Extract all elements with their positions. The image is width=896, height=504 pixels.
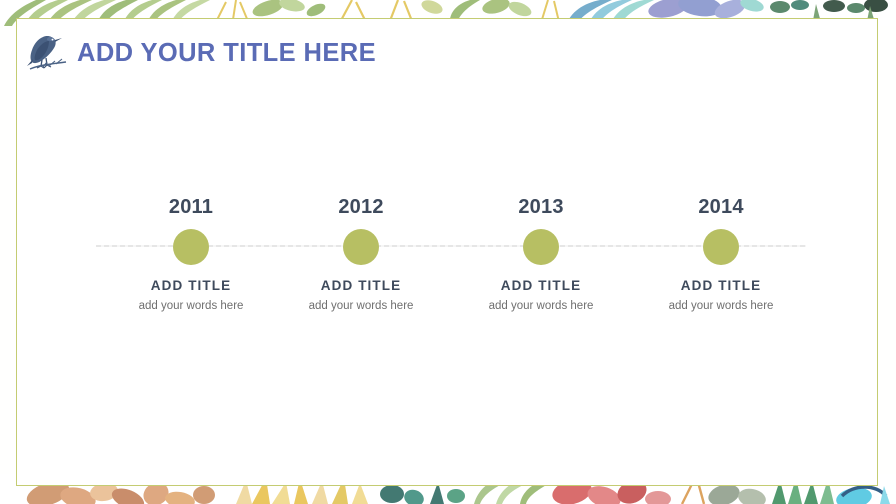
timeline-subtitle: ADD TITLE (451, 278, 631, 294)
timeline-marker-dot[interactable] (173, 229, 209, 265)
timeline-marker-dot[interactable] (703, 229, 739, 265)
timeline-year: 2013 (451, 197, 631, 217)
timeline-description: add your words here (631, 299, 811, 313)
timeline-item[interactable]: 2014 ADD TITLE add your words here (631, 197, 811, 313)
timeline-year: 2014 (631, 197, 811, 217)
timeline-year: 2011 (101, 197, 281, 217)
timeline: 2011 ADD TITLE add your words here 2012 … (17, 19, 879, 487)
timeline-subtitle: ADD TITLE (101, 278, 281, 294)
slide-card: ADD YOUR TITLE HERE 2011 ADD TITLE add y… (16, 18, 878, 486)
timeline-description: add your words here (451, 299, 631, 313)
timeline-subtitle: ADD TITLE (271, 278, 451, 294)
slide-canvas: ADD YOUR TITLE HERE 2011 ADD TITLE add y… (0, 0, 896, 504)
timeline-marker-dot[interactable] (523, 229, 559, 265)
timeline-item[interactable]: 2012 ADD TITLE add your words here (271, 197, 451, 313)
timeline-item[interactable]: 2011 ADD TITLE add your words here (101, 197, 281, 313)
timeline-marker-dot[interactable] (343, 229, 379, 265)
timeline-item[interactable]: 2013 ADD TITLE add your words here (451, 197, 631, 313)
timeline-description: add your words here (101, 299, 281, 313)
timeline-description: add your words here (271, 299, 451, 313)
timeline-subtitle: ADD TITLE (631, 278, 811, 294)
timeline-year: 2012 (271, 197, 451, 217)
